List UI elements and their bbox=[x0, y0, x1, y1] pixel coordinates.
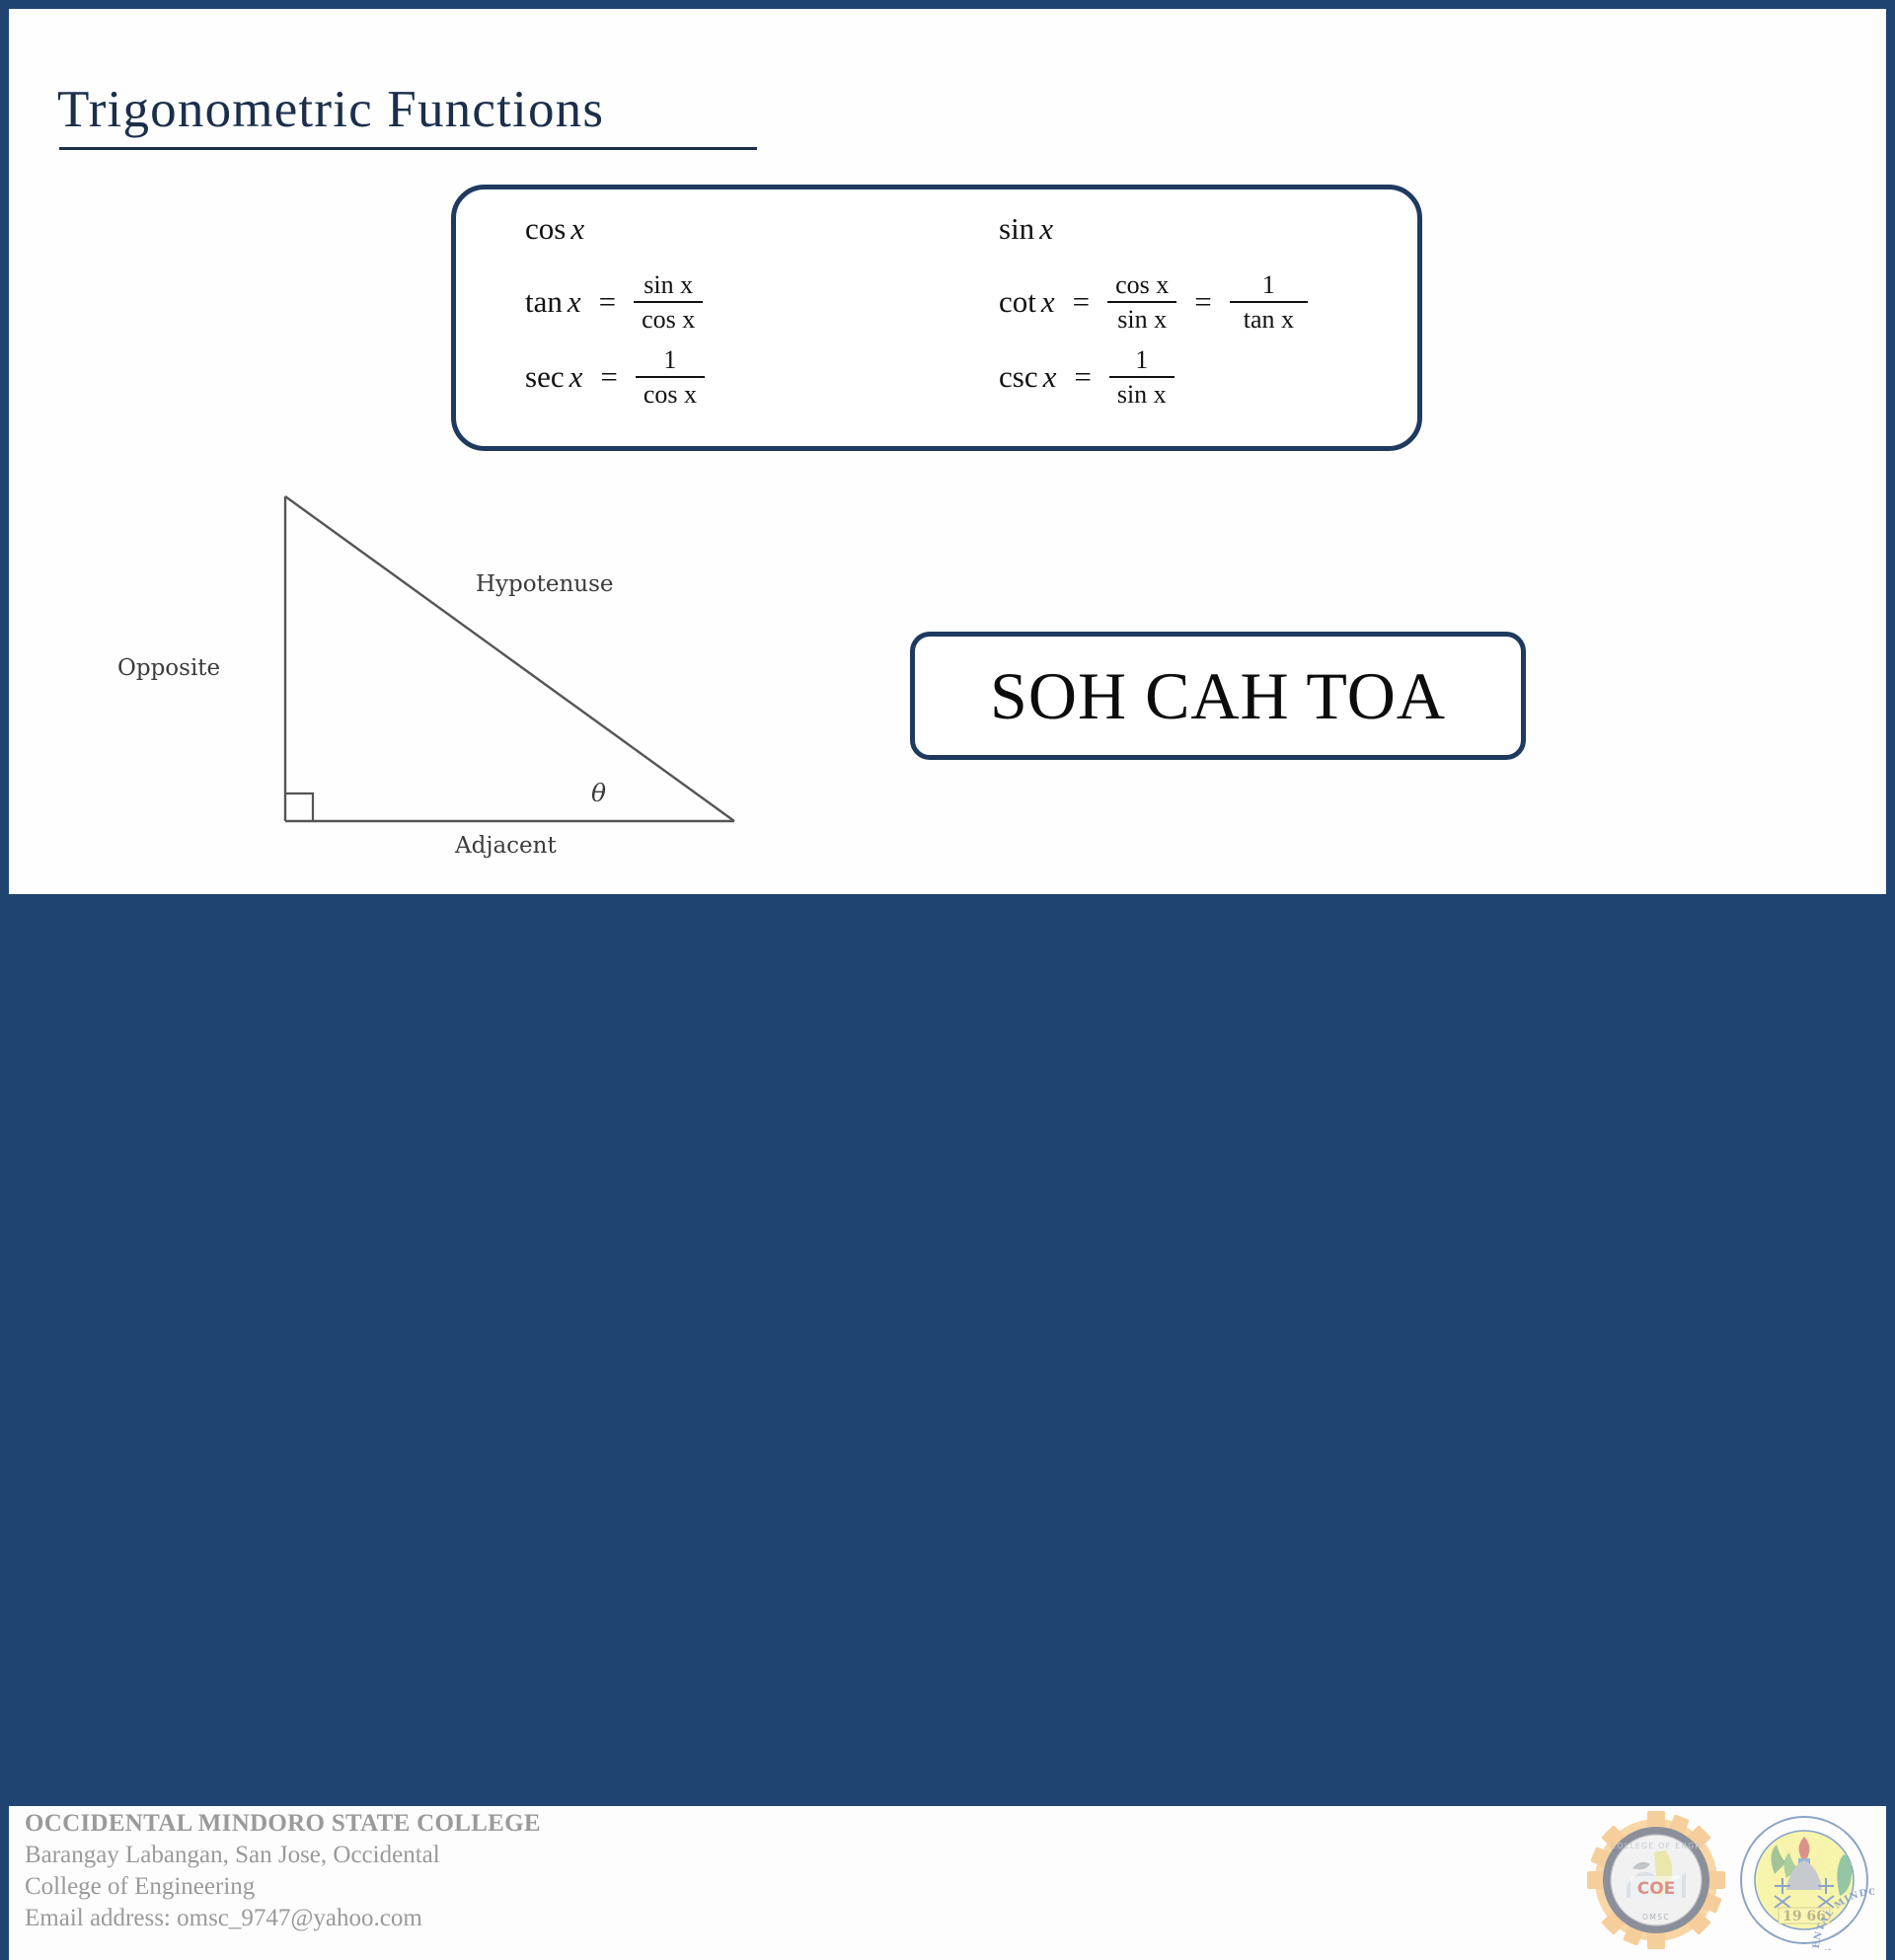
footer: OCCIDENTAL MINDORO STATE COLLEGE Baranga… bbox=[9, 1806, 1886, 1960]
formula-csc-numerator: 1 bbox=[1127, 345, 1156, 374]
formula-tan-equals: = bbox=[581, 284, 634, 320]
triangle-side-hypotenuse bbox=[285, 496, 734, 821]
formula-column-right: sin x cot x = cos x sin x = 1 bbox=[999, 205, 1308, 415]
fraction-bar bbox=[1107, 301, 1176, 303]
fraction-bar bbox=[636, 376, 705, 378]
footer-address: Barangay Labangan, San Jose, Occidental bbox=[25, 1840, 541, 1871]
triangle-svg bbox=[117, 483, 828, 877]
formula-csc-name: csc bbox=[999, 359, 1038, 395]
formula-cot-denominator-second: tan x bbox=[1230, 305, 1308, 334]
formula-sec-equals: = bbox=[582, 359, 635, 395]
footer-department: College of Engineering bbox=[25, 1871, 541, 1903]
formula-sec-fraction: 1 cos x bbox=[636, 345, 705, 410]
formula-column-left: cos x tan x = sin x cos x sec x = bbox=[525, 205, 705, 415]
formula-sec-numerator: 1 bbox=[655, 345, 684, 374]
formula-tan-variable: x bbox=[563, 284, 581, 320]
formula-tan-numerator: sin x bbox=[636, 270, 701, 299]
coe-caption: COE bbox=[1637, 1879, 1676, 1899]
svg-text:COLLEGE OF ENGR: COLLEGE OF ENGR bbox=[1611, 1842, 1702, 1850]
footer-email: Email address: omsc_9747@yahoo.com bbox=[25, 1903, 541, 1934]
formula-csc-denominator: sin x bbox=[1109, 380, 1175, 409]
fraction-bar bbox=[634, 301, 703, 303]
seal-year: 19 66 bbox=[1782, 1909, 1826, 1924]
formula-csc-fraction: 1 sin x bbox=[1109, 345, 1175, 410]
formula-cot-name: cot bbox=[999, 284, 1036, 320]
formula-cot-denominator: sin x bbox=[1109, 305, 1175, 334]
triangle-label-hypotenuse: Hypotenuse bbox=[476, 571, 614, 597]
triangle-label-opposite: Opposite bbox=[117, 655, 220, 681]
slide-frame: Trigonometric Functions cos x tan x = si… bbox=[0, 0, 1895, 1066]
right-angle-marker-icon bbox=[285, 793, 313, 821]
formula-row-sin: sin x bbox=[999, 205, 1308, 264]
formula-sec-name: sec bbox=[525, 359, 565, 395]
triangle-label-angle-theta: θ bbox=[591, 779, 606, 807]
formula-tan-name: tan bbox=[525, 284, 563, 320]
formula-row-sec: sec x = 1 cos x bbox=[525, 339, 705, 415]
triangle-label-adjacent: Adjacent bbox=[455, 833, 557, 859]
trig-formula-box: cos x tan x = sin x cos x sec x = bbox=[451, 185, 1422, 451]
formula-cot-equals: = bbox=[1055, 284, 1107, 320]
formula-sin-name: sin bbox=[999, 211, 1034, 247]
mnemonic-box: SOH CAH TOA bbox=[910, 632, 1526, 760]
page-title: Trigonometric Functions bbox=[57, 83, 604, 138]
formula-row-csc: csc x = 1 sin x bbox=[999, 339, 1308, 415]
fraction-bar bbox=[1230, 301, 1308, 303]
footer-band: OCCIDENTAL MINDORO STATE COLLEGE Baranga… bbox=[0, 894, 1895, 1066]
footer-logos: COE COLLEGE OF ENGR OMSC bbox=[1586, 1810, 1874, 1950]
formula-csc-equals: = bbox=[1056, 359, 1108, 395]
occidental-mindoro-state-college-seal: 19 66 OCCIDENTAL MINDORO STATE COLLEGE S… bbox=[1734, 1810, 1874, 1950]
formula-cot-numerator-second: 1 bbox=[1249, 270, 1289, 299]
footer-organization: OCCIDENTAL MINDORO STATE COLLEGE bbox=[25, 1808, 541, 1840]
formula-cot-fraction: cos x sin x bbox=[1107, 270, 1176, 335]
svg-text:Sablayan, Occidental Mindoro: Sablayan, Occidental Mindoro bbox=[1822, 1948, 1874, 1950]
formula-tan-denominator: cos x bbox=[634, 305, 703, 334]
svg-text:OMSC: OMSC bbox=[1642, 1913, 1670, 1922]
page-title-underline bbox=[59, 147, 757, 150]
formula-row-cot: cot x = cos x sin x = 1 tan x bbox=[999, 264, 1308, 339]
formula-csc-variable: x bbox=[1038, 359, 1057, 395]
formula-sin-variable: x bbox=[1034, 211, 1053, 247]
fraction-bar bbox=[1109, 376, 1175, 378]
formula-cot-equals-second: = bbox=[1176, 284, 1229, 320]
college-of-engineering-seal: COE COLLEGE OF ENGR OMSC bbox=[1586, 1810, 1726, 1950]
formula-cos-variable: x bbox=[566, 211, 584, 247]
formula-cos-name: cos bbox=[525, 211, 566, 247]
formula-tan-fraction: sin x cos x bbox=[634, 270, 703, 335]
formula-sec-variable: x bbox=[565, 359, 583, 395]
formula-cot-variable: x bbox=[1036, 284, 1055, 320]
formula-row-cos: cos x bbox=[525, 205, 705, 264]
mnemonic-text: SOH CAH TOA bbox=[990, 657, 1446, 735]
footer-text-block: OCCIDENTAL MINDORO STATE COLLEGE Baranga… bbox=[25, 1808, 541, 1934]
formula-cot-fraction-second: 1 tan x bbox=[1230, 270, 1308, 335]
formula-cot-numerator: cos x bbox=[1107, 270, 1176, 299]
right-triangle-diagram: Opposite Hypotenuse Adjacent θ bbox=[117, 483, 828, 877]
formula-row-tan: tan x = sin x cos x bbox=[525, 264, 705, 339]
formula-sec-denominator: cos x bbox=[636, 380, 705, 409]
slide-canvas: Trigonometric Functions cos x tan x = si… bbox=[9, 9, 1886, 894]
